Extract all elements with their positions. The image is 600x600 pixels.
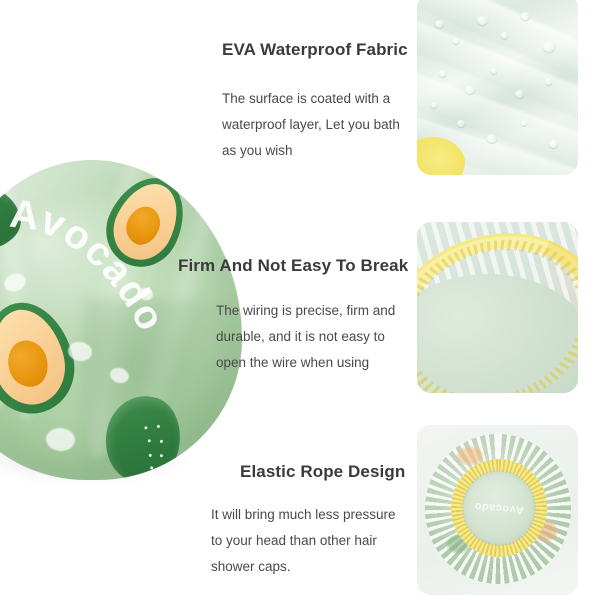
- feature-body-line: The wiring is precise, firm and: [216, 298, 408, 324]
- feature-heading: Elastic Rope Design: [240, 462, 405, 482]
- elastic-band-photo: [417, 222, 578, 393]
- feature-body-line: shower caps.: [211, 554, 405, 580]
- water-droplet: [477, 16, 488, 25]
- feature-photo-eva-waterproof-fabric: [417, 0, 578, 175]
- feature-body: It will bring much less pressure to your…: [211, 502, 405, 580]
- water-droplet: [491, 68, 497, 74]
- water-droplet: [465, 86, 475, 94]
- feature-heading: Firm And Not Easy To Break: [178, 256, 408, 276]
- feature-heading: EVA Waterproof Fabric: [222, 40, 408, 60]
- feature-body-line: It will bring much less pressure: [211, 502, 405, 528]
- water-droplet: [501, 32, 508, 39]
- water-droplet: [435, 20, 444, 28]
- feature-block-elastic-rope-design: Elastic Rope Design It will bring much l…: [240, 462, 405, 580]
- feature-body-line: open the wire when using: [216, 350, 408, 376]
- water-droplet: [457, 120, 465, 127]
- water-droplet: [439, 70, 446, 77]
- dot-motif: [45, 427, 76, 452]
- water-droplet: [545, 78, 552, 85]
- feature-body: The wiring is precise, firm and durable,…: [216, 298, 408, 376]
- feature-body: The surface is coated with a waterproof …: [222, 86, 408, 164]
- feature-body-line: to your head than other hair: [211, 528, 405, 554]
- feature-body-line: as you wish: [222, 138, 408, 164]
- water-droplet: [521, 12, 530, 20]
- infographic-page: Avocado: [0, 0, 600, 600]
- feature-body-line: The surface is coated with a: [222, 86, 408, 112]
- water-droplet: [431, 102, 437, 108]
- feature-photo-firm-and-not-easy-to-break: [417, 222, 578, 393]
- water-droplet: [453, 38, 459, 44]
- feature-body-line: waterproof layer, Let you bath: [222, 112, 408, 138]
- water-droplet: [543, 42, 555, 52]
- water-droplet: [549, 140, 558, 148]
- cap-underside-photo: Avocado: [417, 425, 578, 595]
- brand-text-underside: Avocado: [466, 475, 531, 542]
- feature-block-firm-and-not-easy-to-break: Firm And Not Easy To Break The wiring is…: [178, 256, 408, 376]
- feature-body-line: durable, and it is not easy to: [216, 324, 408, 350]
- water-droplet: [515, 90, 524, 98]
- water-droplet: [487, 134, 497, 143]
- feature-photo-elastic-rope-design: Avocado: [417, 425, 578, 595]
- water-droplet: [521, 120, 527, 126]
- feature-block-eva-waterproof-fabric: EVA Waterproof Fabric The surface is coa…: [222, 40, 408, 164]
- wet-fabric-photo: [417, 0, 578, 175]
